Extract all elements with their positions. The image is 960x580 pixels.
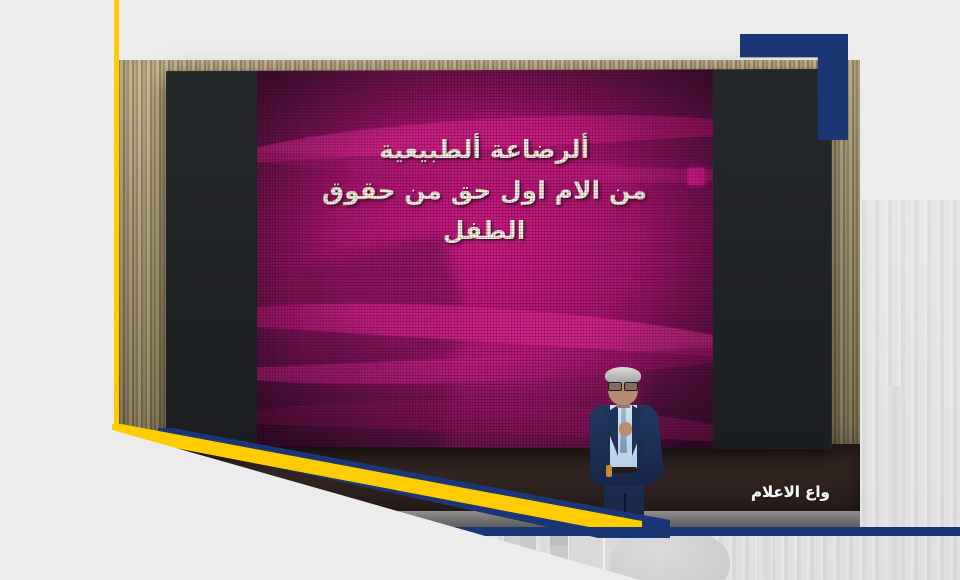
media-office-logo: واع الاعلام [746, 482, 835, 503]
slide-title-line-3: الطفل [283, 211, 687, 252]
presenter-belt [609, 467, 637, 473]
building-pillar [886, 386, 902, 580]
presenter-badge [606, 465, 612, 477]
presenter-arm-left [590, 409, 607, 483]
presenter-hand [619, 422, 632, 436]
screen-letterbox-left [166, 71, 257, 447]
glasses-icon [608, 382, 638, 389]
banner-canvas: ألرضاعة ألطبيعية من الام اول حق من حقوق … [0, 0, 960, 580]
led-presentation-screen: ألرضاعة ألطبيعية من الام اول حق من حقوق … [166, 69, 832, 449]
right-margin-panel [860, 0, 960, 200]
slide-title-line-2: من الام اول حق من حقوق [283, 171, 687, 212]
slide-title-line-1: ألرضاعة ألطبيعية [283, 130, 687, 171]
slide-title: ألرضاعة ألطبيعية من الام اول حق من حقوق … [257, 130, 713, 252]
yellow-vertical-rule [114, 0, 119, 432]
screen-letterbox-right [713, 69, 832, 449]
